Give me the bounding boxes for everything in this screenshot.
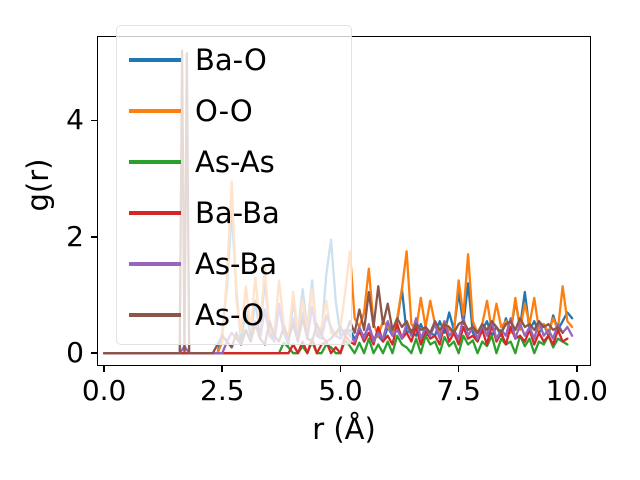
y-axis-label: g(r) [21, 85, 55, 285]
legend-entry-as-as[interactable]: As-As [117, 139, 353, 185]
y-tick-mark [91, 236, 97, 238]
legend-label: As-As [195, 147, 275, 177]
x-tick-label: 7.5 [399, 374, 519, 408]
x-tick-mark [458, 366, 460, 372]
x-tick-label: 5.0 [280, 374, 400, 408]
legend-label: Ba-Ba [195, 198, 280, 228]
legend-entry-as-ba[interactable]: As-Ba [117, 241, 353, 287]
x-tick-mark [340, 366, 342, 372]
x-tick-mark [576, 366, 578, 372]
y-tick-mark [91, 352, 97, 354]
x-tick-label: 0.0 [44, 374, 164, 408]
x-axis-label: r (Å) [97, 412, 591, 446]
x-tick-mark [221, 366, 223, 372]
y-tick-mark [91, 120, 97, 122]
legend-entry-ba-o[interactable]: Ba-O [117, 37, 353, 83]
legend-entry-as-o[interactable]: As-O [117, 292, 353, 338]
legend-swatch-as-o [129, 313, 181, 317]
legend-swatch-ba-ba [129, 211, 181, 215]
figure-canvas: 0.02.55.07.510.0 024 r (Å) g(r) Ba-OO-OA… [0, 0, 640, 480]
legend-label: Ba-O [195, 45, 267, 75]
x-tick-label: 10.0 [517, 374, 637, 408]
legend-swatch-as-as [129, 160, 181, 164]
legend-entry-ba-ba[interactable]: Ba-Ba [117, 190, 353, 236]
legend-swatch-ba-o [129, 58, 181, 62]
y-tick-label: 0 [0, 336, 84, 370]
legend-label: As-Ba [195, 249, 277, 279]
legend-box: Ba-OO-OAs-AsBa-BaAs-BaAs-O [116, 25, 352, 345]
legend-swatch-as-ba [129, 262, 181, 266]
legend-entry-o-o[interactable]: O-O [117, 88, 353, 134]
legend-label: O-O [195, 96, 253, 126]
legend-label: As-O [195, 300, 264, 330]
legend-swatch-o-o [129, 109, 181, 113]
x-tick-mark [103, 366, 105, 372]
x-tick-label: 2.5 [162, 374, 282, 408]
